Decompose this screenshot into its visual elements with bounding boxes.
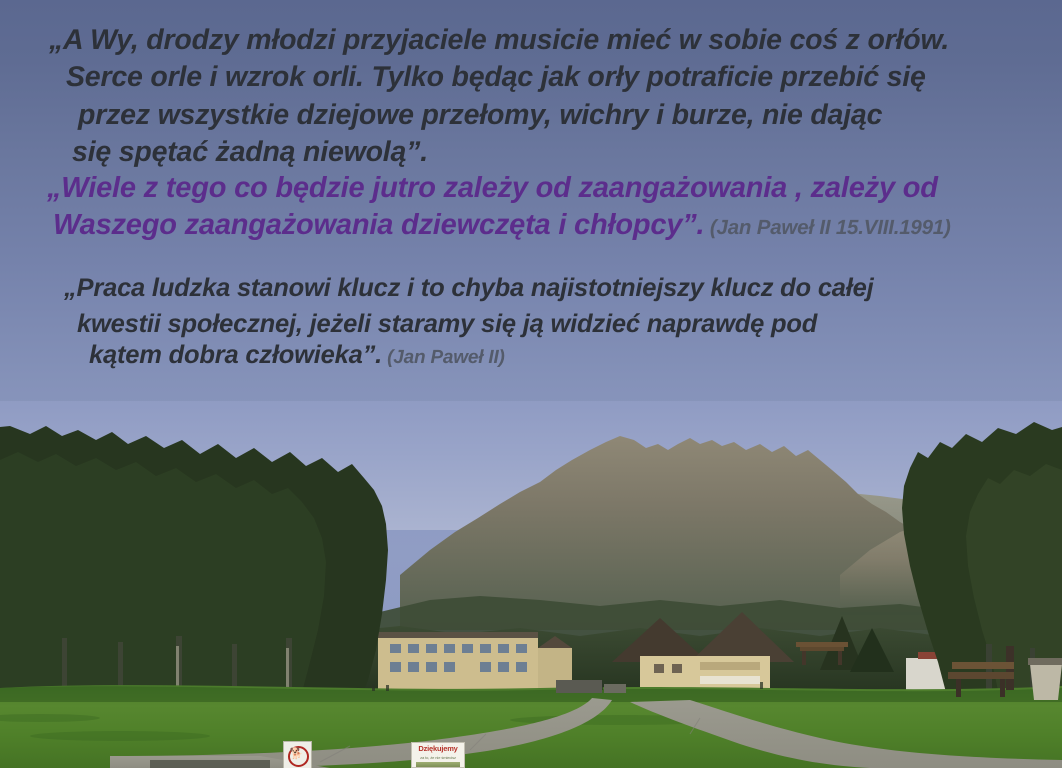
photo-top-edge <box>0 400 1062 401</box>
quote-human-work-line-1: „Praca ludzka stanowi klucz i to chyba n… <box>64 274 874 303</box>
sign-thanks-subtext: za to, że nie śmiecisz <box>420 755 456 760</box>
quote-youth-eagles-line-1: „A Wy, drodzy młodzi przyjaciele musicie… <box>49 24 949 57</box>
quote-human-work-line-3-wrap: kątem dobra człowieka”. (Jan Paweł II) <box>89 341 505 370</box>
sign-thanks-heading: Dziękujemy <box>418 745 457 753</box>
no-dogs-icon: 🐕 <box>284 742 309 767</box>
quotes-text-layer: „A Wy, drodzy młodzi przyjaciele musicie… <box>0 0 1062 400</box>
quote-youth-eagles-line-2: Serce orle i wzrok orli. Tylko będąc jak… <box>66 61 926 94</box>
quote-engagement-line-2-wrap: Waszego zaangażowania dziewczęta i chłop… <box>53 209 951 242</box>
quote-human-work-line-3: kątem dobra człowieka”. <box>89 341 382 369</box>
quote-engagement-attribution: (Jan Paweł II 15.VIII.1991) <box>704 216 950 239</box>
zakopane-photograph <box>0 400 1062 768</box>
quote-human-work-attribution: (Jan Paweł II) <box>382 347 505 368</box>
quote-youth-eagles-line-4: się spętać żadną niewolą”. <box>72 136 428 169</box>
sign-no-dogs: 🐕 <box>283 741 312 768</box>
presentation-slide: 🐕 Dziękujemy za to, że nie śmiecisz „A W… <box>0 0 1062 768</box>
quote-human-work-line-2: kwestii społecznej, jeżeli staramy się j… <box>77 310 817 339</box>
quote-engagement-line-2: Waszego zaangażowania dziewczęta i chłop… <box>53 209 704 241</box>
sign-thanks: Dziękujemy za to, że nie śmiecisz <box>411 742 465 768</box>
sign-thanks-graphic <box>416 762 460 767</box>
quote-engagement-line-1: „Wiele z tego co będzie jutro zależy od … <box>47 172 938 205</box>
quote-youth-eagles-line-3: przez wszystkie dziejowe przełomy, wichr… <box>78 99 882 132</box>
